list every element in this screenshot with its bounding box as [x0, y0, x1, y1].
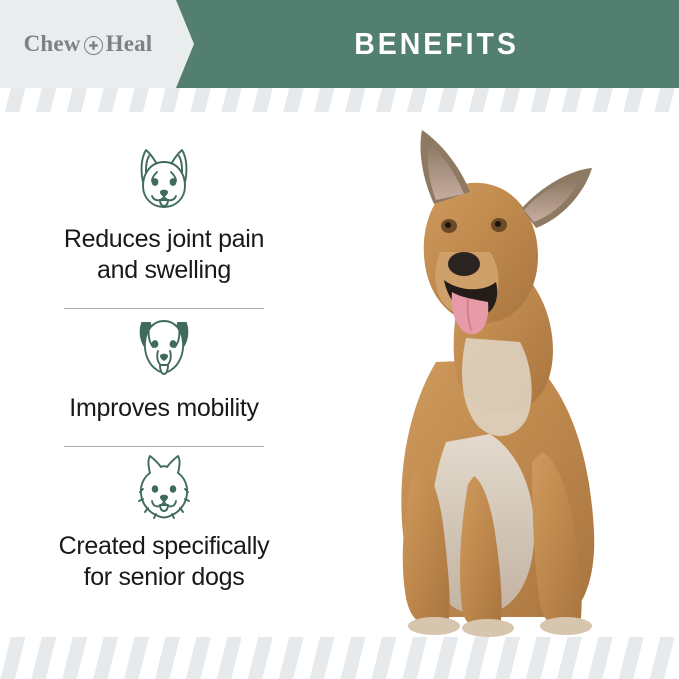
brand-logo-second-word: Heal [106, 31, 153, 57]
benefits-list: Reduces joint pain and swelling [8, 140, 320, 593]
dog-photo [318, 112, 679, 637]
benefit-label: Reduces joint pain and swelling [8, 218, 320, 286]
top-stripe-band [0, 88, 679, 112]
infographic-canvas: Chew Heal BENEFITS [0, 0, 679, 679]
plus-circle-icon [84, 36, 103, 55]
brand-logo-panel: Chew Heal [0, 0, 194, 88]
header-banner: Chew Heal BENEFITS [0, 0, 679, 88]
corgi-dog-head-icon [8, 140, 320, 218]
benefit-item-senior-dogs: Created specifically for senior dogs [8, 447, 320, 593]
benefit-item-joint-pain: Reduces joint pain and swelling [8, 140, 320, 309]
samoyed-dog-head-icon [8, 447, 320, 525]
page-title: BENEFITS [213, 0, 659, 88]
terrier-dog-head-icon [8, 309, 320, 387]
benefit-label: Improves mobility [8, 387, 320, 424]
benefit-item-mobility: Improves mobility [8, 309, 320, 447]
brand-logo-first-word: Chew [24, 31, 81, 57]
benefit-label: Created specifically for senior dogs [8, 525, 320, 593]
bottom-stripe-band [0, 637, 679, 679]
brand-logo: Chew Heal [0, 0, 176, 88]
